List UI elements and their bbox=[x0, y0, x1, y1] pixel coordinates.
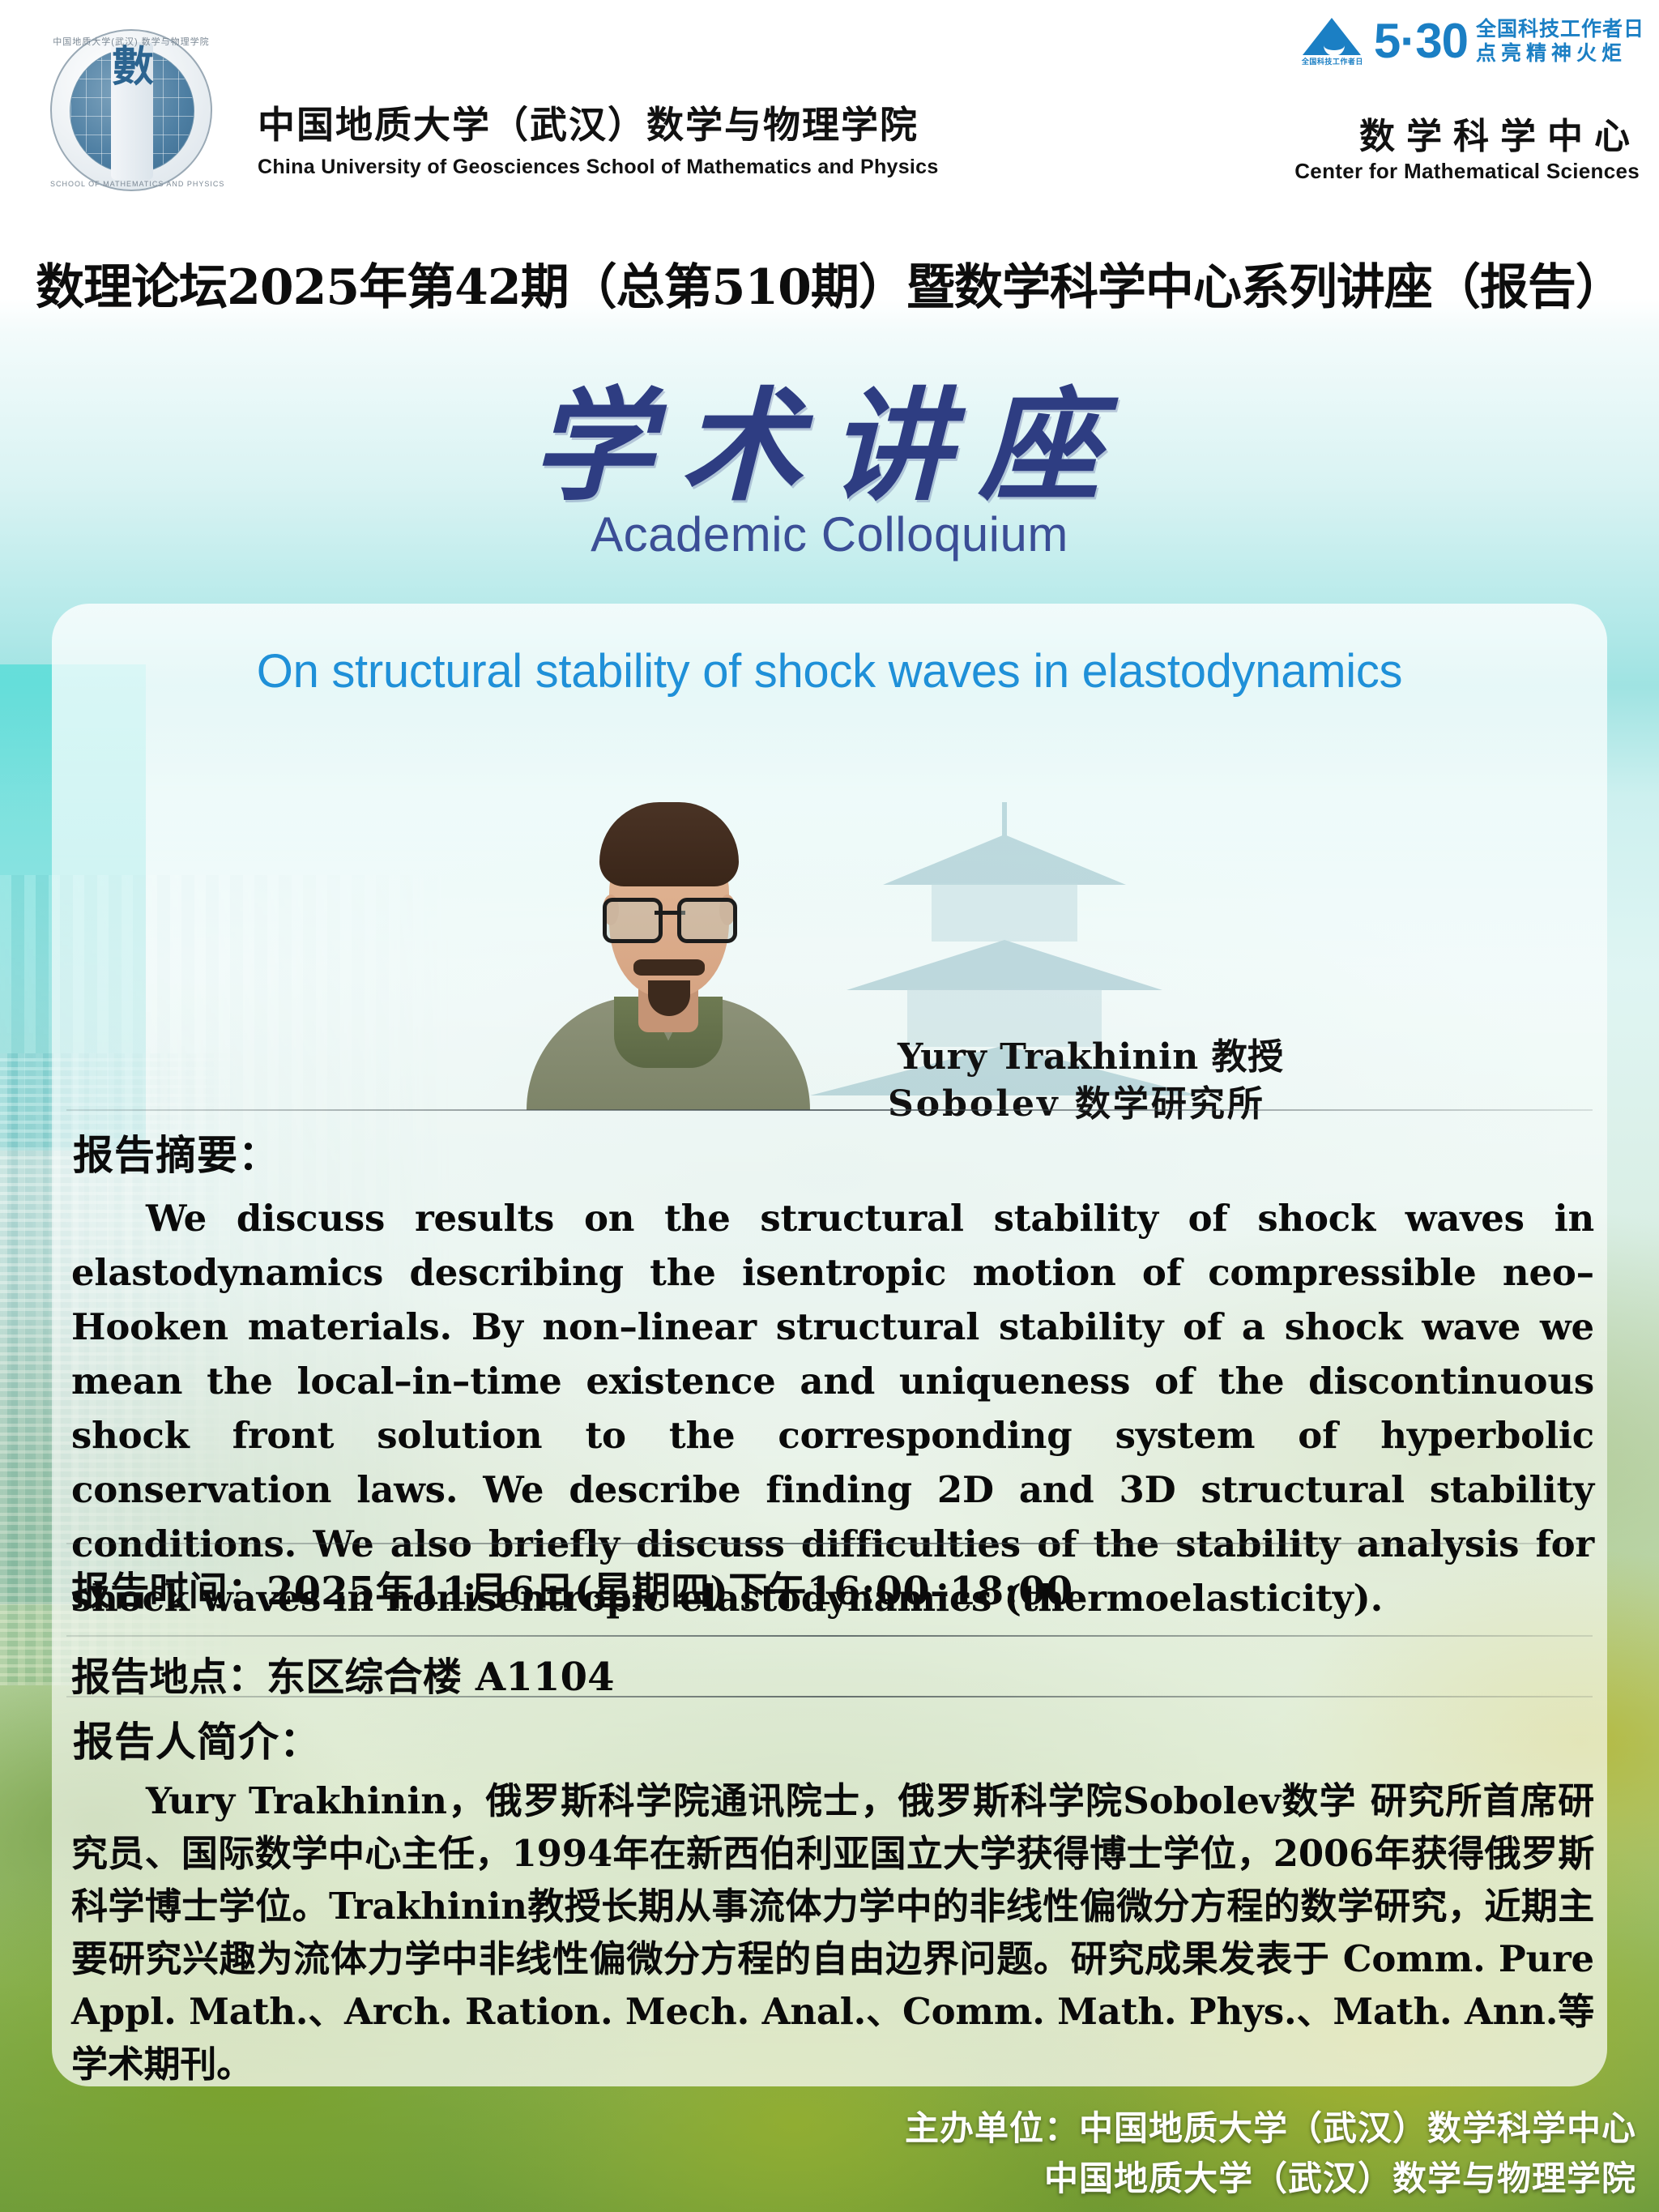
poster-header: 數 中国地质大学(武汉) 数学与物理学院 SCHOOL OF MATHEMATI… bbox=[0, 0, 1659, 209]
emblem-arc-bottom-text: SCHOOL OF MATHEMATICS AND PHYSICS bbox=[50, 180, 212, 188]
talk-time: 报告时间：2025年11月6日(星期四)下午16:00–18:00 bbox=[71, 1559, 1073, 1616]
pagoda-roof-middle bbox=[847, 940, 1162, 990]
bio-heading: 报告人简介： bbox=[73, 1710, 321, 1768]
badge-swoosh-shape bbox=[1324, 36, 1345, 56]
talk-venue-label: 报告地点： bbox=[71, 1656, 267, 1699]
talk-venue-value: 东区综合楼 A1104 bbox=[267, 1655, 615, 1700]
university-emblem-icon: 數 中国地质大学(武汉) 数学与物理学院 SCHOOL OF MATHEMATI… bbox=[50, 29, 212, 191]
forum-series-title: 数理论坛2025年第42期（总第510期）暨数学科学中心系列讲座（报告） bbox=[0, 248, 1659, 318]
center-name-cn: 数学科学中心 bbox=[1359, 107, 1641, 159]
talk-time-value: 2025年11月6日(星期四)下午16:00–18:00 bbox=[267, 1569, 1073, 1614]
portrait-moustache bbox=[633, 959, 705, 976]
center-name-en: Center for Mathematical Sciences bbox=[1294, 159, 1640, 184]
portrait-hair bbox=[599, 802, 739, 886]
badge-mark-caption: 全国科技工作者日 bbox=[1299, 56, 1366, 66]
organizer-footer: 主办单位：中国地质大学（武汉）数学科学中心 中国地质大学（武汉）数学与物理学院 bbox=[502, 2103, 1636, 2204]
speaker-institute: Sobolev 数学研究所 bbox=[888, 1074, 1265, 1126]
divider-above-bio bbox=[66, 1696, 1593, 1697]
talk-time-label: 报告时间： bbox=[71, 1570, 267, 1613]
organization-name-en: China University of Geosciences School o… bbox=[258, 156, 939, 179]
organization-name-cn: 中国地质大学（武汉）数学与物理学院 bbox=[258, 96, 919, 149]
emblem-center-glyph: 數 bbox=[110, 45, 156, 178]
organizer-line-2: 中国地质大学（武汉）数学与物理学院 bbox=[502, 2154, 1636, 2204]
pagoda-spire bbox=[1002, 802, 1007, 838]
portrait-lens-left bbox=[603, 898, 663, 943]
speaker-portrait-photo bbox=[518, 776, 818, 1110]
divider-above-venue bbox=[66, 1635, 1593, 1637]
badge-slogan-line1: 全国科技工作者日 bbox=[1476, 18, 1644, 41]
divider-above-abstract bbox=[66, 1109, 1593, 1111]
portrait-glasses-icon bbox=[603, 898, 737, 935]
sci-tech-day-badge: 全国科技工作者日 5·30 全国科技工作者日 点亮精神火炬 bbox=[1299, 15, 1644, 68]
badge-date-number: 5·30 bbox=[1374, 17, 1468, 66]
calligraphy-title-en: Academic Colloquium bbox=[0, 506, 1659, 562]
portrait-lens-right bbox=[677, 898, 737, 943]
poster-root: 數 中国地质大学(武汉) 数学与物理学院 SCHOOL OF MATHEMATI… bbox=[0, 0, 1659, 2212]
badge-slogan-line2: 点亮精神火炬 bbox=[1476, 42, 1644, 65]
speaker-name: Yury Trakhinin 教授 bbox=[898, 1027, 1284, 1079]
talk-title: On structural stability of shock waves i… bbox=[0, 644, 1659, 698]
abstract-heading: 报告摘要： bbox=[73, 1123, 279, 1181]
talk-venue: 报告地点：东区综合楼 A1104 bbox=[71, 1645, 615, 1702]
bio-body: Yury Trakhinin，俄罗斯科学院通讯院士，俄罗斯科学院Sobolev数… bbox=[71, 1774, 1594, 2090]
pagoda-roof-top bbox=[883, 835, 1126, 885]
badge-mark-icon: 全国科技工作者日 bbox=[1299, 16, 1366, 66]
emblem-arc-top-text: 中国地质大学(武汉) 数学与物理学院 bbox=[50, 35, 212, 48]
divider-above-time bbox=[66, 1543, 1593, 1544]
badge-slogan: 全国科技工作者日 点亮精神火炬 bbox=[1476, 18, 1644, 65]
organizer-line-1: 主办单位：中国地质大学（武汉）数学科学中心 bbox=[502, 2103, 1636, 2154]
pagoda-body-upper bbox=[932, 883, 1077, 942]
calligraphy-title-cn: 学术讲座 bbox=[0, 348, 1659, 524]
